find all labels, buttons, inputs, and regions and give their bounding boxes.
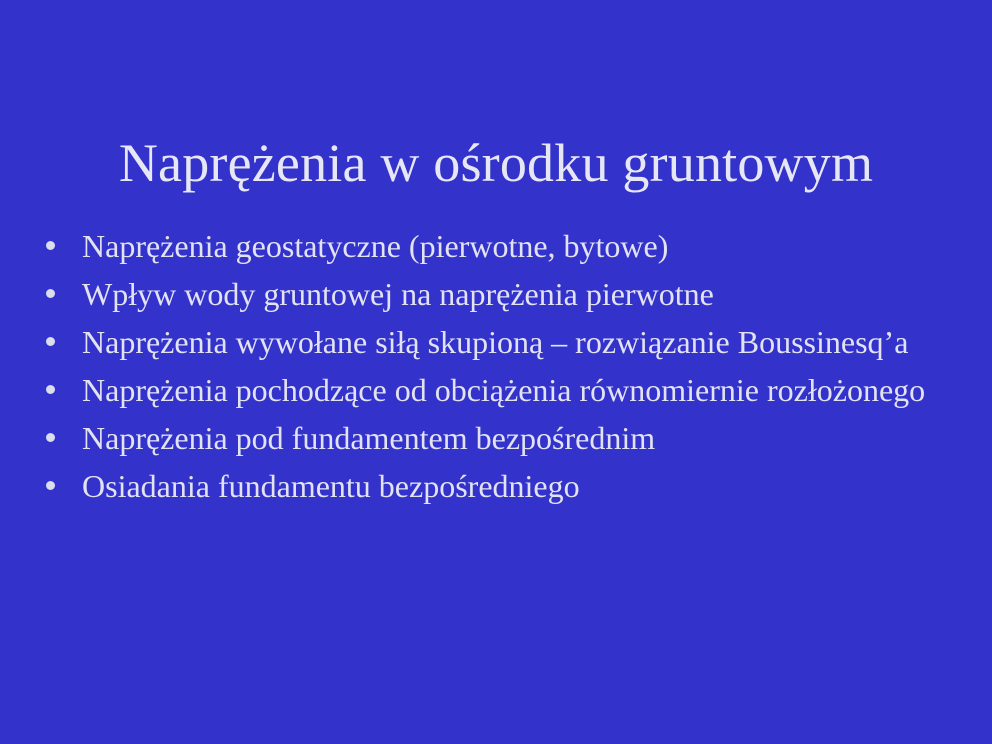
list-item: Osiadania fundamentu bezpośredniego xyxy=(36,462,972,510)
slide-title: Naprężenia w ośrodku gruntowym xyxy=(0,132,992,194)
presentation-slide: Naprężenia w ośrodku gruntowym Naprężeni… xyxy=(0,0,992,744)
bullet-dot-icon xyxy=(44,414,56,462)
list-item: Naprężenia wywołane siłą skupioną – rozw… xyxy=(36,318,972,366)
bullet-dot-icon xyxy=(44,318,56,366)
bullet-dot-icon xyxy=(44,270,56,318)
bullet-dot-icon xyxy=(44,366,56,414)
list-item-label: Naprężenia pod fundamentem bezpośrednim xyxy=(82,414,655,462)
list-item-label: Naprężenia pochodzące od obciążenia równ… xyxy=(82,366,925,414)
list-item: Naprężenia geostatyczne (pierwotne, byto… xyxy=(36,222,972,270)
list-item-label: Naprężenia wywołane siłą skupioną – rozw… xyxy=(82,318,908,366)
list-item-label: Osiadania fundamentu bezpośredniego xyxy=(82,462,580,510)
bullet-dot-icon xyxy=(44,222,56,270)
list-item: Naprężenia pod fundamentem bezpośrednim xyxy=(36,414,972,462)
list-item-label: Naprężenia geostatyczne (pierwotne, byto… xyxy=(82,222,668,270)
list-item: Wpływ wody gruntowej na naprężenia pierw… xyxy=(36,270,972,318)
bullet-list: Naprężenia geostatyczne (pierwotne, byto… xyxy=(36,222,972,510)
bullet-dot-icon xyxy=(44,462,56,510)
list-item: Naprężenia pochodzące od obciążenia równ… xyxy=(36,366,972,414)
list-item-label: Wpływ wody gruntowej na naprężenia pierw… xyxy=(82,270,714,318)
